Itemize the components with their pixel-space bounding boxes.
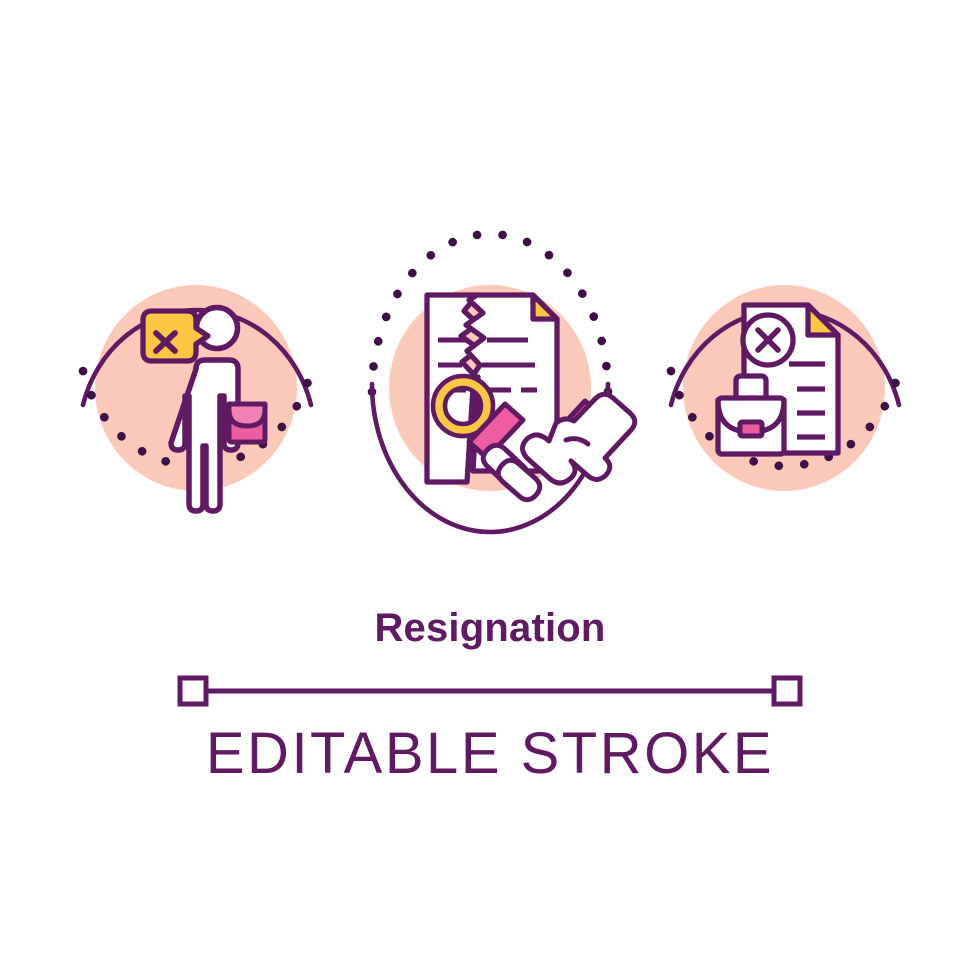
stroke-width-indicator — [180, 678, 800, 704]
dog-ear-corner — [533, 295, 557, 319]
illustration-canvas: Resignation EDITABLE STROKE — [0, 0, 980, 980]
page-title: Resignation — [374, 606, 605, 650]
stroke-rule-right-handle[interactable] — [774, 678, 800, 704]
icon-center-group[interactable] — [372, 234, 635, 532]
x-circle-icon — [743, 315, 793, 365]
editable-stroke-label: EDITABLE STROKE — [206, 721, 774, 786]
stroke-rule-left-handle[interactable] — [180, 678, 206, 704]
icon-right-group[interactable] — [671, 285, 899, 491]
icon-left-group[interactable] — [83, 285, 311, 511]
speech-bubble-rejection — [143, 311, 208, 361]
briefcase-latch — [740, 422, 762, 436]
briefcase-bag — [229, 404, 265, 442]
concept-icon-artboard: Resignation EDITABLE STROKE — [0, 0, 980, 980]
